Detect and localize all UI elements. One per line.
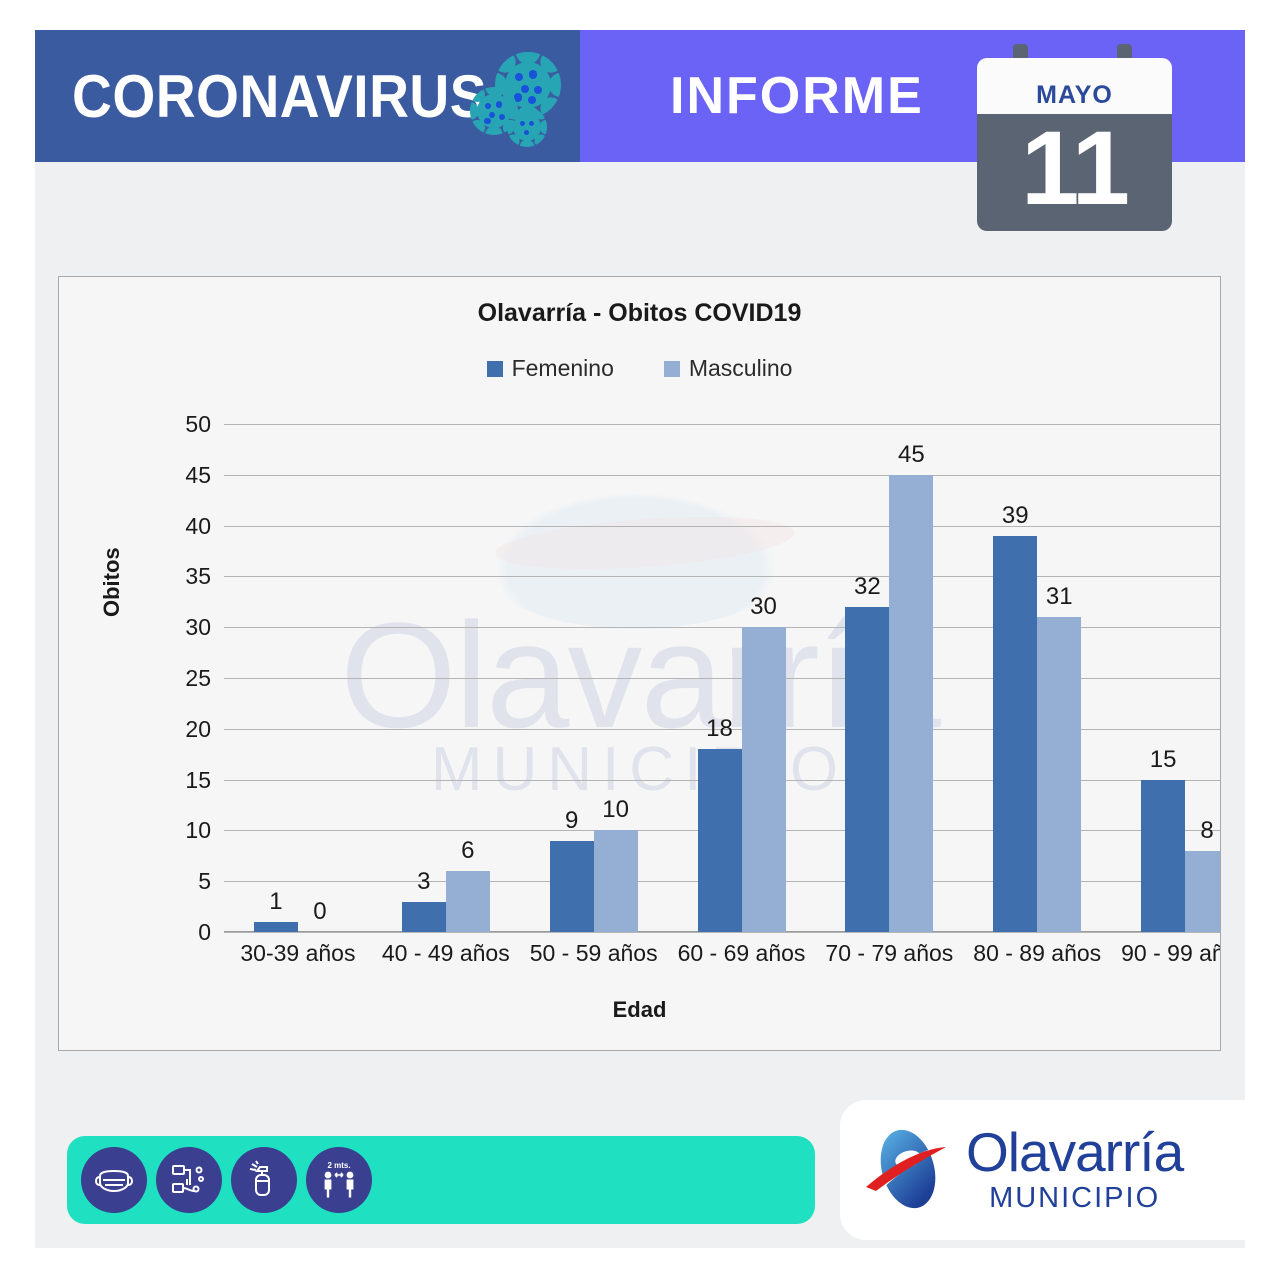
bar-femenino[interactable]	[698, 749, 742, 932]
calendar-icon: MAYO 11	[977, 44, 1172, 231]
y-axis-tick: 10	[151, 817, 211, 844]
legend-label: Femenino	[512, 355, 614, 382]
virus-small-icon	[513, 113, 541, 141]
virus-medium-icon	[477, 94, 511, 128]
bar-slot: 45	[889, 424, 933, 932]
bar-value-label: 9	[565, 807, 578, 835]
bar-slot: 39	[993, 424, 1037, 932]
bar-femenino[interactable]	[845, 607, 889, 932]
y-axis-tick: 20	[151, 716, 211, 743]
bar-slot: 9	[550, 424, 594, 932]
x-axis-tick: 90 - 99 años	[1111, 940, 1221, 967]
sanitizer-spray-icon	[231, 1147, 297, 1213]
y-axis-tick: 35	[151, 563, 211, 590]
y-axis-tick: 40	[151, 513, 211, 540]
bar-value-label: 0	[313, 898, 326, 926]
bar-value-label: 1	[269, 888, 282, 916]
bar-value-label: 39	[1002, 502, 1029, 530]
bar-masculino[interactable]	[1185, 851, 1221, 932]
bar-femenino[interactable]	[254, 922, 298, 932]
x-axis-tick: 70 - 79 años	[815, 940, 963, 967]
y-axis-tick: 50	[151, 411, 211, 438]
bar-masculino[interactable]	[889, 475, 933, 932]
poster-root: CORONAVIRUS	[0, 0, 1280, 1280]
bar-slot: 18	[698, 424, 742, 932]
bar-masculino[interactable]	[446, 871, 490, 932]
y-axis-label: Obitos	[99, 547, 125, 617]
bar-slot: 31	[1037, 424, 1081, 932]
calendar-day: 11	[1021, 124, 1128, 214]
chart-card: Olavarría MUNICIPIO Olavarría - Obitos C…	[58, 276, 1221, 1051]
bar-masculino[interactable]	[742, 627, 786, 932]
y-axis-tick: 5	[151, 868, 211, 895]
bar-value-label: 15	[1150, 746, 1177, 774]
y-axis-tick: 45	[151, 462, 211, 489]
bar-slot: 10	[594, 424, 638, 932]
bar-group: 910	[520, 424, 668, 932]
legend-swatch-icon	[487, 361, 503, 377]
x-axis-tick: 60 - 69 años	[668, 940, 816, 967]
bar-femenino[interactable]	[402, 902, 446, 932]
bar-value-label: 10	[602, 796, 629, 824]
legend-item-masculino[interactable]: Masculino	[664, 355, 793, 382]
bar-slot: 1	[254, 424, 298, 932]
bar-slot: 8	[1185, 424, 1221, 932]
logo-text: Olavarría MUNICIPIO	[966, 1125, 1183, 1213]
bar-value-label: 3	[417, 868, 430, 896]
bar-value-label: 30	[750, 593, 777, 621]
chart-title: Olavarría - Obitos COVID19	[59, 299, 1220, 328]
gridline	[224, 932, 1221, 933]
calendar-body: 11	[977, 114, 1172, 231]
calendar-month: MAYO	[1036, 81, 1113, 110]
brand-title: CORONAVIRUS	[72, 62, 487, 131]
x-axis-tick: 80 - 89 años	[963, 940, 1111, 967]
calendar-header: MAYO	[977, 58, 1172, 114]
bar-group: 158	[1111, 424, 1221, 932]
social-distance-icon: 2 mts.	[306, 1147, 372, 1213]
bar-group: 36	[372, 424, 520, 932]
handwash-icon	[156, 1147, 222, 1213]
y-axis-tick: 30	[151, 614, 211, 641]
y-axis-tick: 0	[151, 919, 211, 946]
x-axis-label: Edad	[59, 997, 1220, 1023]
bar-value-label: 6	[461, 837, 474, 865]
bar-group: 3245	[815, 424, 963, 932]
legend-item-femenino[interactable]: Femenino	[487, 355, 614, 382]
bar-slot: 32	[845, 424, 889, 932]
logo-mark-icon	[862, 1123, 954, 1215]
bar-group: 10	[224, 424, 372, 932]
bar-group: 1830	[668, 424, 816, 932]
bar-slot: 0	[298, 424, 342, 932]
bar-slot: 3	[402, 424, 446, 932]
bar-value-label: 31	[1046, 583, 1073, 611]
bar-femenino[interactable]	[993, 536, 1037, 932]
bar-value-label: 32	[854, 573, 881, 601]
svg-text:2 mts.: 2 mts.	[327, 1161, 350, 1170]
x-axis-tick: 40 - 49 años	[372, 940, 520, 967]
bar-femenino[interactable]	[1141, 780, 1185, 932]
y-axis-tick: 15	[151, 767, 211, 794]
section-title: INFORME	[670, 66, 924, 126]
x-axis-tick: 30-39 años	[224, 940, 372, 967]
face-mask-icon	[81, 1147, 147, 1213]
bar-slot: 6	[446, 424, 490, 932]
prevention-bar: 2 mts.	[67, 1136, 815, 1224]
bar-value-label: 45	[898, 441, 925, 469]
legend-label: Masculino	[689, 355, 793, 382]
header-left-panel: CORONAVIRUS	[35, 30, 580, 162]
logo-sub: MUNICIPIO	[966, 1184, 1183, 1213]
legend-swatch-icon	[664, 361, 680, 377]
logo-name: Olavarría	[966, 1125, 1183, 1180]
bar-value-label: 8	[1200, 817, 1213, 845]
chart-legend: FemeninoMasculino	[59, 355, 1220, 382]
olavarria-logo: Olavarría MUNICIPIO	[862, 1123, 1183, 1215]
bar-slot: 30	[742, 424, 786, 932]
bar-femenino[interactable]	[550, 841, 594, 932]
x-axis-tick-labels: 30-39 años40 - 49 años50 - 59 años60 - 6…	[224, 940, 1221, 967]
virus-cluster-icon	[475, 58, 565, 143]
bar-slot: 15	[1141, 424, 1185, 932]
bar-group: 3931	[963, 424, 1111, 932]
bar-masculino[interactable]	[1037, 617, 1081, 932]
bar-groups: 1036910183032453931158	[224, 424, 1221, 932]
y-axis-tick: 25	[151, 665, 211, 692]
bar-value-label: 18	[706, 715, 733, 743]
x-axis-tick: 50 - 59 años	[520, 940, 668, 967]
bar-masculino[interactable]	[594, 830, 638, 932]
